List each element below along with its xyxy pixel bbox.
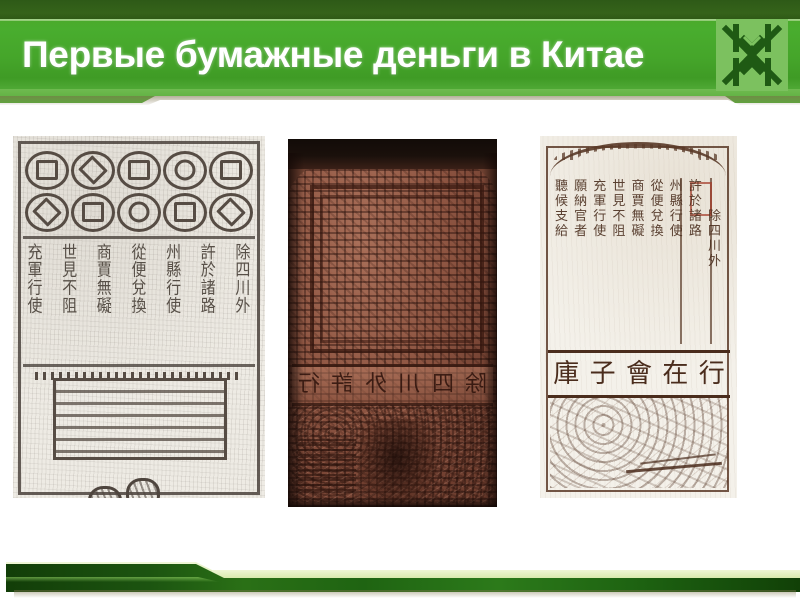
chinese-char: 縣 (670, 195, 683, 209)
chinese-char: 礙 (97, 297, 112, 315)
text-column: 除 四 川 外 (705, 176, 724, 344)
market-scene-illustration (27, 372, 251, 498)
chinese-char: 充 (27, 243, 42, 261)
note-lower-illustration (550, 398, 728, 488)
text-column: 商 賈 無 礙 (629, 176, 648, 344)
chinese-char: 川 (235, 279, 250, 297)
chinese-char: 路 (201, 297, 216, 315)
coin-row-second (25, 194, 253, 230)
footer-shadow (14, 590, 796, 598)
coin-icon (209, 151, 253, 190)
chinese-char: 行 (593, 210, 606, 224)
chinese-char: 兌 (651, 210, 664, 224)
coin-icon (163, 151, 207, 190)
text-column: 世 見 不 阻 (609, 176, 628, 344)
chinese-char: 除 (235, 243, 250, 261)
text-column: 聽 候 支 給 (552, 176, 571, 344)
interlaced-lattice-logo-icon (716, 19, 788, 91)
chinese-char: 使 (166, 297, 181, 315)
chinese-char: 於 (201, 261, 216, 279)
chinese-char: 者 (574, 225, 587, 239)
page-title: Первые бумажные деньги в Китае (22, 27, 644, 83)
chinese-char: 礙 (631, 225, 644, 239)
text-column: 州 縣 行 使 (667, 176, 686, 344)
plate-hatching (298, 439, 356, 491)
shop-shelf (53, 378, 227, 460)
image-bronze-printing-plate: 除 四 川 外 許 行 (288, 139, 497, 507)
chinese-char: 便 (651, 195, 664, 209)
coin-icon (71, 151, 115, 190)
image-huizi-banknote: 除 四 川 外 許 於 諸 路 州 縣 行 使 從 便 兌 換 商 賈 無 礙 (540, 136, 737, 498)
text-column: 從 便 兌 換 (129, 244, 149, 314)
chinese-char: 不 (612, 210, 625, 224)
header-ribbon-shadow (0, 96, 800, 106)
chinese-char: 賈 (631, 195, 644, 209)
chinese-char: 四 (708, 225, 721, 239)
coin-icon (71, 193, 115, 232)
plate-top-shadow (288, 139, 497, 169)
header-band-highlight (0, 19, 800, 21)
mirrored-char: 外 (365, 374, 387, 396)
large-char: 在 (662, 361, 688, 387)
chinese-char: 換 (651, 225, 664, 239)
chinese-char: 軍 (593, 195, 606, 209)
text-column: 充 軍 行 使 (590, 176, 609, 344)
chinese-char: 納 (574, 195, 587, 209)
large-char: 行 (699, 361, 725, 387)
text-column: 許 於 諸 路 (686, 176, 705, 344)
chinese-char: 使 (670, 225, 683, 239)
chinese-char: 州 (670, 180, 683, 194)
chinese-char: 給 (555, 225, 568, 239)
chinese-char: 支 (555, 210, 568, 224)
plate-text-frame-inner (320, 195, 474, 343)
footer-light-edge-right (212, 570, 800, 578)
chinese-char: 行 (27, 279, 42, 297)
chinese-char: 見 (62, 261, 77, 279)
chinese-char: 除 (708, 210, 721, 224)
large-char: 會 (626, 361, 652, 387)
chinese-char: 便 (131, 261, 146, 279)
figure-person (85, 486, 119, 498)
figure-head (88, 486, 122, 498)
text-column: 充 軍 行 使 (25, 244, 45, 314)
chinese-char: 軍 (27, 261, 42, 279)
coin-icon (209, 193, 253, 232)
chinese-char: 行 (166, 279, 181, 297)
chinese-char: 世 (612, 180, 625, 194)
chinese-char: 許 (201, 243, 216, 261)
chinese-char: 不 (62, 279, 77, 297)
chinese-char: 賈 (97, 261, 112, 279)
figure-head (126, 478, 160, 498)
chinese-char: 無 (631, 210, 644, 224)
chinese-char: 商 (97, 243, 112, 261)
chinese-char: 從 (131, 243, 146, 261)
chinese-char: 換 (131, 297, 146, 315)
chinese-char: 使 (593, 225, 606, 239)
mirrored-char: 川 (398, 374, 420, 396)
chinese-char: 世 (62, 243, 77, 261)
print-divider (23, 364, 255, 367)
text-column: 願 納 官 者 (571, 176, 590, 344)
image-jiaozi-woodcut-print: 除 四 川 外 許 於 諸 路 州 縣 行 使 從 便 兌 換 商 賈 無 礙 (13, 136, 265, 498)
chinese-char: 阻 (612, 225, 625, 239)
plate-right-edge (483, 153, 497, 507)
coin-icon (117, 193, 161, 232)
chinese-char: 行 (670, 210, 683, 224)
chinese-char: 使 (27, 297, 42, 315)
chinese-char: 諸 (201, 279, 216, 297)
chinese-char: 兌 (131, 279, 146, 297)
mirrored-char: 許 (331, 374, 353, 396)
footer-ribbon (0, 534, 800, 600)
mirrored-char: 四 (432, 374, 454, 396)
text-column: 州 縣 行 使 (164, 244, 184, 314)
text-column: 許 於 諸 路 (198, 244, 218, 314)
coin-icon (163, 193, 207, 232)
chinese-char: 外 (708, 255, 721, 269)
coin-icon (25, 193, 69, 232)
chinese-char: 路 (689, 225, 702, 239)
chinese-char: 縣 (166, 261, 181, 279)
chinese-char: 於 (689, 195, 702, 209)
chinese-char: 四 (235, 261, 250, 279)
note-title-band: 行 在 會 子 庫 (548, 350, 730, 398)
text-column: 除 四 川 外 (233, 244, 253, 314)
plate-mirrored-character-band: 除 四 川 外 許 行 (292, 364, 493, 406)
header-banner: Первые бумажные деньги в Китае (0, 0, 800, 108)
figure-person (123, 478, 157, 498)
chinese-char: 商 (631, 180, 644, 194)
text-column: 商 賈 無 礙 (94, 244, 114, 314)
chinese-char: 州 (166, 243, 181, 261)
chinese-char: 外 (235, 297, 250, 315)
chinese-char: 從 (651, 180, 664, 194)
chinese-char: 聽 (555, 180, 568, 194)
plate-bottom-edge (288, 497, 497, 507)
chinese-char: 願 (574, 180, 587, 194)
plate-left-edge (288, 153, 304, 507)
large-char: 庫 (553, 361, 579, 387)
chinese-char: 川 (708, 240, 721, 254)
chinese-text-block: 除 四 川 外 許 於 諸 路 州 縣 行 使 從 便 兌 換 商 賈 無 礙 (25, 244, 253, 314)
print-divider (23, 236, 255, 239)
chinese-char: 官 (574, 210, 587, 224)
chinese-char: 許 (689, 180, 702, 194)
large-char: 子 (590, 361, 616, 387)
note-text-block: 除 四 川 外 許 於 諸 路 州 縣 行 使 從 便 兌 換 商 賈 無 礙 (552, 176, 724, 344)
text-column: 從 便 兌 換 (648, 176, 667, 344)
chinese-char: 諸 (689, 210, 702, 224)
plate-lower-shadow (358, 419, 436, 505)
coin-row-top (25, 152, 253, 188)
chinese-char: 充 (593, 180, 606, 194)
chinese-char: 候 (555, 195, 568, 209)
text-column: 世 見 不 阻 (60, 244, 80, 314)
chinese-char: 無 (97, 279, 112, 297)
chinese-char: 見 (612, 195, 625, 209)
chinese-char: 阻 (62, 297, 77, 315)
coin-icon (117, 151, 161, 190)
coin-icon (25, 151, 69, 190)
